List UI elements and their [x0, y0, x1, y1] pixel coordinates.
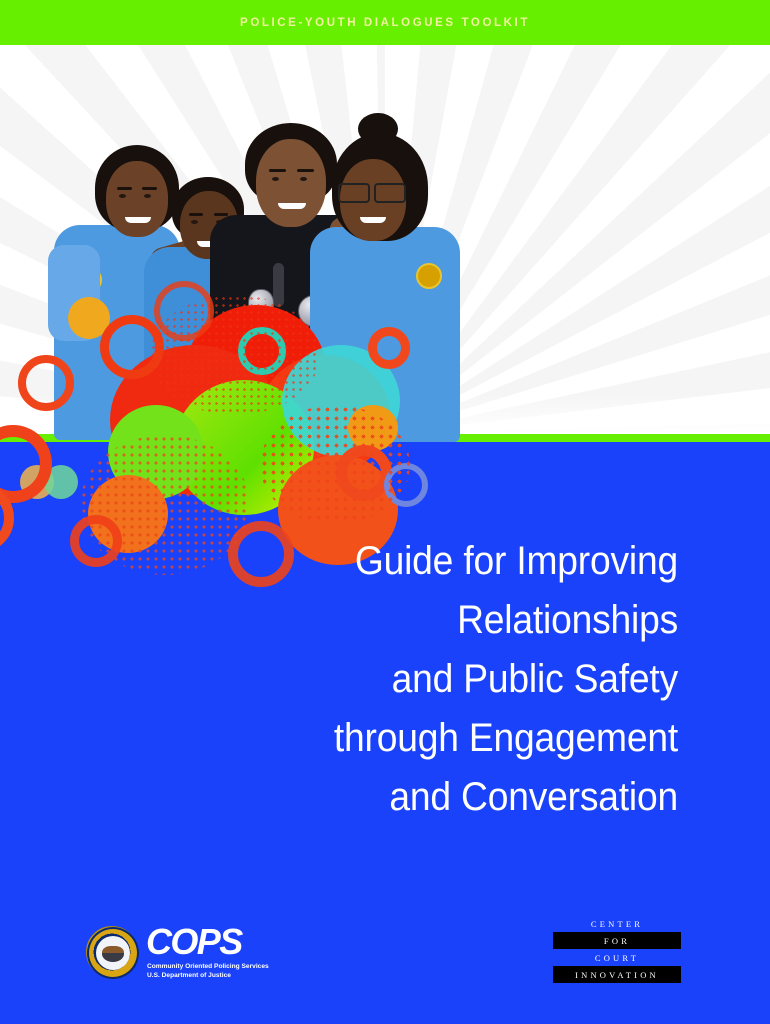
cops-logo: COPS Community Oriented Policing Service…	[86, 924, 286, 986]
title-line-5: and Conversation	[120, 768, 678, 827]
radio-microphone	[273, 263, 284, 307]
smile	[360, 217, 386, 223]
cci-line-innovation: INNOVATION	[553, 966, 681, 983]
brow	[269, 169, 286, 172]
cover-title: Guide for Improving Relationships and Pu…	[78, 532, 678, 827]
eye	[300, 177, 307, 181]
eye	[144, 194, 151, 198]
brow	[142, 187, 157, 190]
brow	[214, 213, 228, 216]
banner-title: POLICE-YOUTH DIALOGUES TOOLKIT	[0, 0, 770, 45]
brow	[189, 213, 203, 216]
face	[106, 161, 168, 237]
cops-wordmark: COPS	[146, 924, 242, 960]
department-of-justice-seal-icon	[86, 926, 138, 978]
cci-line-for: FOR	[553, 932, 681, 949]
cops-tagline-line-2: U.S. Department of Justice	[147, 971, 287, 980]
brow	[117, 187, 132, 190]
cops-tagline-line-1: Community Oriented Policing Services	[147, 962, 287, 971]
title-line-1: Guide for Improving	[120, 532, 678, 591]
police-badge	[248, 289, 274, 319]
face	[256, 139, 326, 227]
eye	[272, 177, 279, 181]
eyeglasses	[338, 183, 406, 199]
title-line-3: and Public Safety	[120, 650, 678, 709]
shirt-emblem	[416, 263, 442, 289]
sleeve	[48, 245, 100, 341]
smile	[125, 217, 151, 223]
title-line-4: through Engagement	[120, 709, 678, 768]
smile	[278, 203, 306, 209]
cci-line-court: COURT	[553, 949, 681, 966]
group-photo	[40, 95, 510, 445]
hair-bun	[358, 113, 398, 145]
publication-cover: POLICE-YOUTH DIALOGUES TOOLKIT	[0, 0, 770, 1024]
torso	[310, 227, 460, 442]
eye	[119, 194, 126, 198]
cci-line-center: CENTER	[553, 915, 681, 932]
center-for-court-innovation-logo: CENTER FOR COURT INNOVATION	[553, 915, 681, 983]
cops-tagline: Community Oriented Policing Services U.S…	[147, 962, 287, 980]
title-line-2: Relationships	[120, 591, 678, 650]
seal-ring	[87, 927, 139, 979]
eye	[191, 220, 198, 224]
brow	[297, 169, 314, 172]
top-banner: POLICE-YOUTH DIALOGUES TOOLKIT	[0, 0, 770, 45]
